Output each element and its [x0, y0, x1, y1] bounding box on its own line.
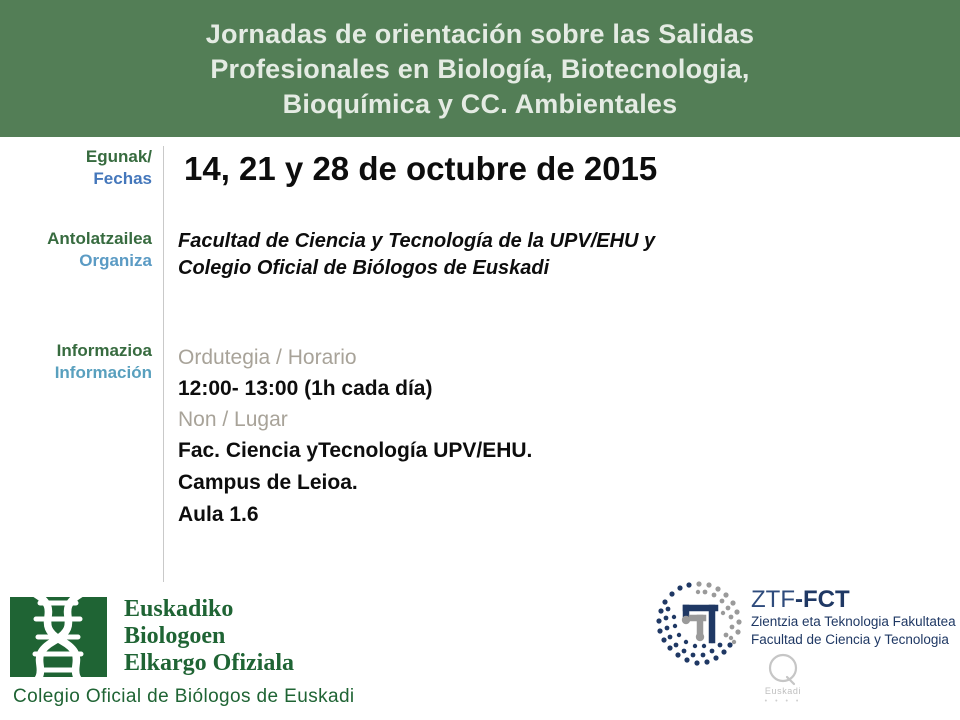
organizer-label-group: Antolatzailea Organiza: [0, 228, 152, 272]
dates-value: 14, 21 y 28 de octubre de 2015: [184, 148, 657, 190]
cobe-logo: Euskadiko Biologoen Elkargo Ofiziala: [10, 597, 294, 677]
dates-label-basque: Egunak/: [0, 146, 152, 168]
organizer-label-basque: Antolatzailea: [0, 228, 152, 250]
page-title-line-1: Jornadas de orientación sobre las Salida…: [206, 17, 754, 52]
place-line-3: Aula 1.6: [178, 499, 532, 531]
ztf-fct-acronym: ZTF-FCT: [751, 586, 956, 613]
organizer-label-spanish: Organiza: [0, 250, 152, 272]
place-sublabel: Non / Lugar: [178, 405, 532, 435]
organizer-line-2: Colegio Oficial de Biólogos de Euskadi: [178, 255, 655, 282]
ztf-acronym-light: ZTF: [751, 586, 795, 613]
euskadi-government-mark: Euskadi • • • •: [748, 652, 818, 706]
euskadi-dots: • • • •: [748, 697, 818, 706]
dates-label-spanish: Fechas: [0, 168, 152, 190]
place-line-2: Campus de Leioa.: [178, 467, 532, 499]
cobe-basque-line-3: Elkargo Ofiziala: [124, 650, 294, 677]
vertical-divider: [163, 146, 164, 582]
schedule-sublabel: Ordutegia / Horario: [178, 343, 532, 373]
page-title-line-2: Profesionales en Biología, Biotecnologia…: [210, 52, 749, 87]
euskadi-wordmark: Euskadi: [748, 686, 818, 697]
dates-label-group: Egunak/ Fechas: [0, 146, 152, 190]
information-label-group: Informazioa Información: [0, 340, 152, 384]
place-line-1: Fac. Ciencia yTecnología UPV/EHU.: [178, 435, 532, 467]
poster-header-banner: Jornadas de orientación sobre las Salida…: [0, 0, 960, 137]
ztf-acronym-bold: -FCT: [795, 586, 850, 613]
page-title-line-3: Bioquímica y CC. Ambientales: [283, 87, 678, 122]
dotted-circle-emblem-icon: [655, 580, 743, 668]
ztf-subtitle-basque: Zientzia eta Teknologia Fakultatea: [751, 613, 956, 631]
schedule-value: 12:00- 13:00 (1h cada día): [178, 373, 532, 405]
cobe-spanish-line: Colegio Oficial de Biólogos de Euskadi: [13, 685, 355, 709]
cobe-basque-line-1: Euskadiko: [124, 596, 294, 623]
information-value-block: Ordutegia / Horario 12:00- 13:00 (1h cad…: [178, 343, 532, 531]
ztf-fct-wordmark: ZTF-FCT Zientzia eta Teknologia Fakultat…: [751, 586, 956, 649]
cobe-wordmark: Euskadiko Biologoen Elkargo Ofiziala: [124, 596, 294, 677]
dna-helix-icon: [10, 597, 107, 677]
euskadi-ring-icon: [765, 652, 801, 686]
cobe-basque-line-2: Biologoen: [124, 623, 294, 650]
organizer-value-block: Facultad de Ciencia y Tecnología de la U…: [178, 228, 655, 282]
information-label-spanish: Información: [0, 362, 152, 384]
organizer-line-1: Facultad de Ciencia y Tecnología de la U…: [178, 228, 655, 255]
information-label-basque: Informazioa: [0, 340, 152, 362]
ztf-subtitle-spanish: Facultad de Ciencia y Tecnologia: [751, 631, 956, 649]
